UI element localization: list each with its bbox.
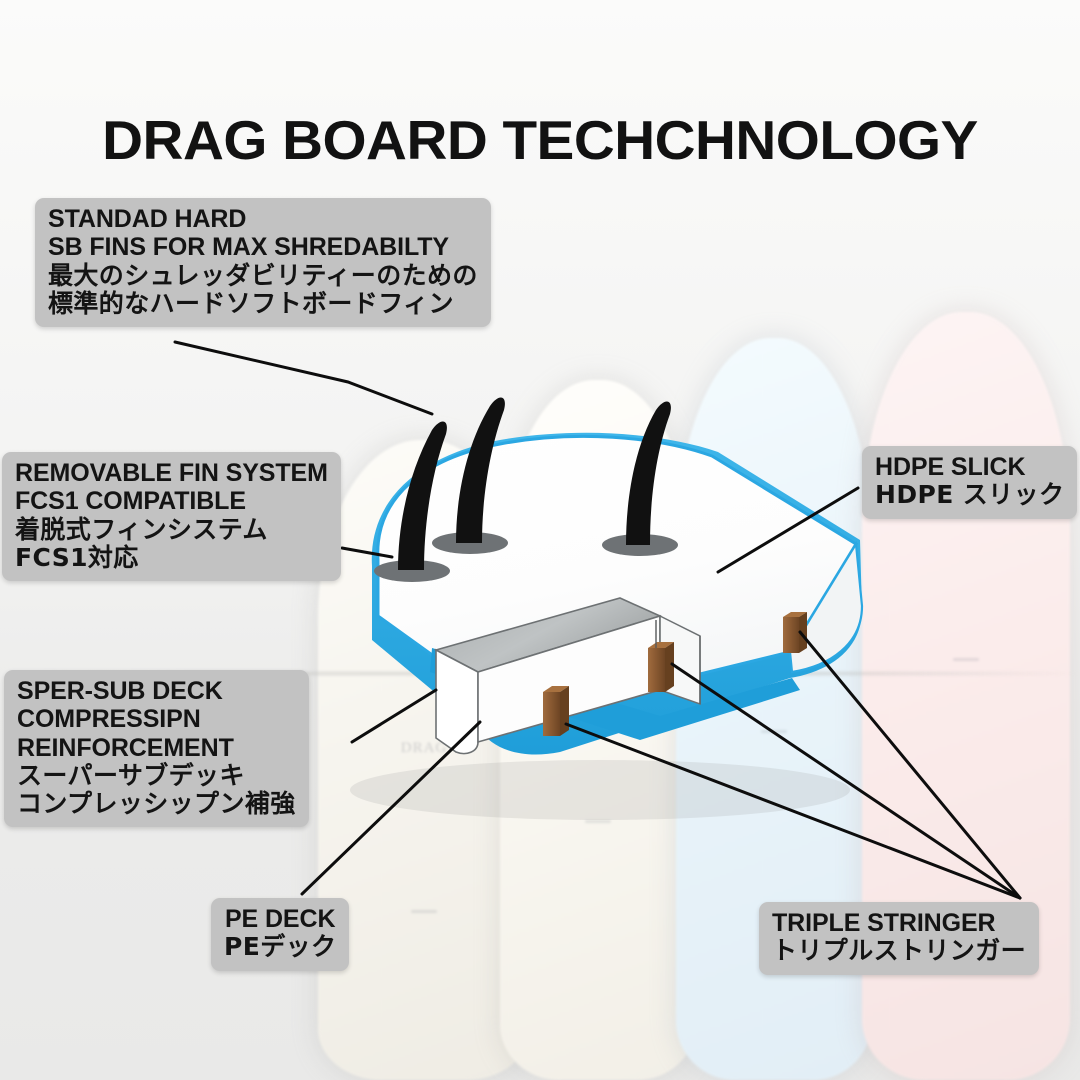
callout-line: PEデック [224, 933, 336, 961]
leader-standad-hard [175, 342, 432, 414]
callout-line: COMPRESSIPN [17, 705, 296, 733]
infographic-canvas: DRAG DRAG DRAG DRAG [0, 0, 1080, 1080]
callout-line: 標準的なハードソフトボードフィン [48, 290, 478, 318]
callout-line: REMOVABLE FIN SYSTEM [15, 459, 328, 487]
callout-line: 最大のシュレッダビリティーのための [48, 262, 478, 290]
leader-stringer-1 [566, 724, 1020, 898]
callout-line: STANDAD HARD [48, 205, 478, 233]
callout-line: FCS1 COMPATIBLE [15, 487, 328, 515]
leader-hdpe-slick [718, 488, 858, 572]
callout-line: HDPE スリック [875, 481, 1064, 509]
page-title: DRAG BOARD TECHCHNOLOGY [0, 108, 1080, 172]
callout-line: スーパーサブデッキ [17, 762, 296, 790]
callout-triple-stringer: TRIPLE STRINGER トリプルストリンガー [759, 902, 1039, 975]
callout-pe-deck: PE DECK PEデック [211, 898, 349, 971]
callout-line: 着脱式フィンシステム [15, 516, 328, 544]
leader-stringer-3 [800, 632, 1020, 898]
leader-removable-fin [342, 548, 392, 557]
callout-line: PE DECK [224, 905, 336, 933]
callout-line: コンプレッシップン補強 [17, 790, 296, 818]
callout-standad-hard: STANDAD HARD SB FINS FOR MAX SHREDABILTY… [35, 198, 491, 327]
callout-hdpe-slick: HDPE SLICK HDPE スリック [862, 446, 1077, 519]
leader-sub-deck [352, 690, 436, 742]
callout-line: SPER-SUB DECK [17, 677, 296, 705]
callout-sper-sub-deck: SPER-SUB DECK COMPRESSIPN REINFORCEMENT … [4, 670, 309, 827]
callout-line: トリプルストリンガー [772, 937, 1026, 965]
callout-line: FCS1対応 [15, 544, 328, 572]
leader-stringer-2 [672, 664, 1020, 898]
callout-line: HDPE SLICK [875, 453, 1064, 481]
callout-line: SB FINS FOR MAX SHREDABILTY [48, 233, 478, 261]
callout-line: TRIPLE STRINGER [772, 909, 1026, 937]
callout-removable-fin-system: REMOVABLE FIN SYSTEM FCS1 COMPATIBLE 着脱式… [2, 452, 341, 581]
callout-line: REINFORCEMENT [17, 734, 296, 762]
leader-pe-deck [302, 722, 480, 894]
